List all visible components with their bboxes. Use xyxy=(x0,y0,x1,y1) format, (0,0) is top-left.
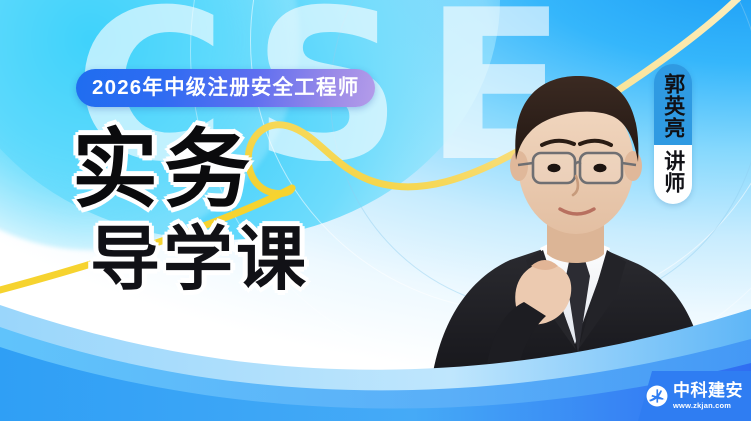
course-banner: CSE xyxy=(0,0,751,421)
course-title-badge-label: 2026年中级注册安全工程师 xyxy=(92,78,359,99)
instructor-name: 郭英亮 xyxy=(661,64,685,145)
page-title: 实务 导学课 xyxy=(72,128,412,294)
brand-name: 中科建安 xyxy=(673,382,743,399)
headline-main: 实务 xyxy=(72,128,412,212)
headline-sub: 导学课 xyxy=(90,224,412,294)
instructor-role: 讲师 xyxy=(661,145,685,204)
zkjan-bird-logo-icon xyxy=(646,385,668,407)
course-title-badge: 2026年中级注册安全工程师 xyxy=(76,69,375,107)
brand-logo[interactable]: 中科建安 www.zkjan.com xyxy=(638,371,751,421)
instructor-badge: 郭英亮 讲师 xyxy=(654,64,692,204)
brand-url: www.zkjan.com xyxy=(673,402,743,410)
